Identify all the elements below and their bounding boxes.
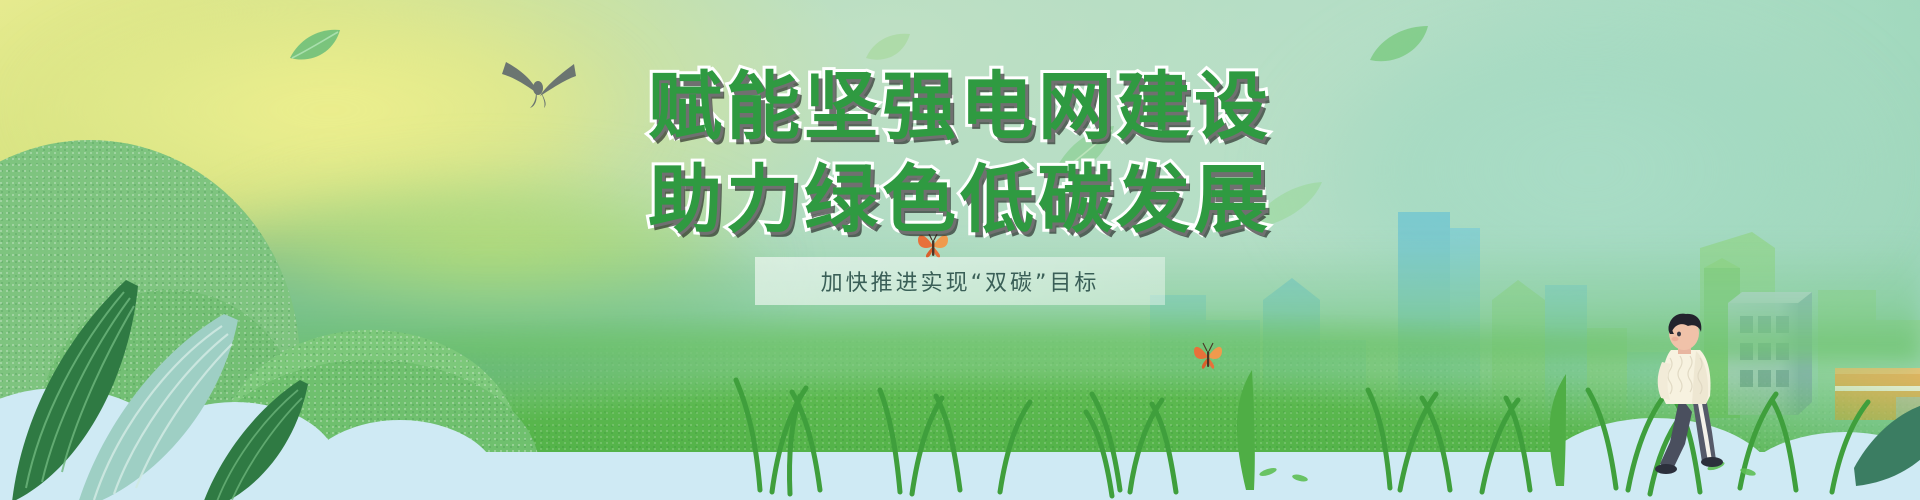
leaf-top-far bbox=[1368, 24, 1430, 68]
subtitle-text: 加快推进实现“双碳”目标 bbox=[821, 265, 1100, 297]
leaf-dark-right-bottom bbox=[1848, 396, 1920, 490]
person-walking bbox=[1640, 312, 1730, 477]
headline-line-1: 赋能坚强电网建设 bbox=[0, 66, 1920, 149]
person-shoe-front bbox=[1701, 457, 1723, 467]
leaf-top-right bbox=[864, 32, 912, 66]
eco-power-grid-banner: 赋能坚强电网建设 助力绿色低碳发展 加快推进实现“双碳”目标 bbox=[0, 0, 1920, 500]
grass-wide-blade-2 bbox=[1549, 374, 1566, 486]
person-eye bbox=[1677, 332, 1681, 337]
grass-wide-blade-1 bbox=[1237, 370, 1255, 490]
grass-speck-1 bbox=[1259, 466, 1278, 477]
grass-speck-2 bbox=[1292, 473, 1309, 483]
leaf-top-small bbox=[288, 28, 342, 66]
headline-line-2: 助力绿色低碳发展 bbox=[0, 159, 1920, 242]
person-shoe-back bbox=[1655, 464, 1677, 474]
person-cheek bbox=[1672, 337, 1679, 341]
subtitle-panel: 加快推进实现“双碳”目标 bbox=[755, 257, 1165, 305]
headline-block: 赋能坚强电网建设 助力绿色低碳发展 bbox=[0, 66, 1920, 242]
leaf-teal-left-large bbox=[74, 312, 249, 500]
butterfly-on-grass bbox=[1192, 338, 1224, 370]
person-leg-back bbox=[1660, 396, 1692, 469]
